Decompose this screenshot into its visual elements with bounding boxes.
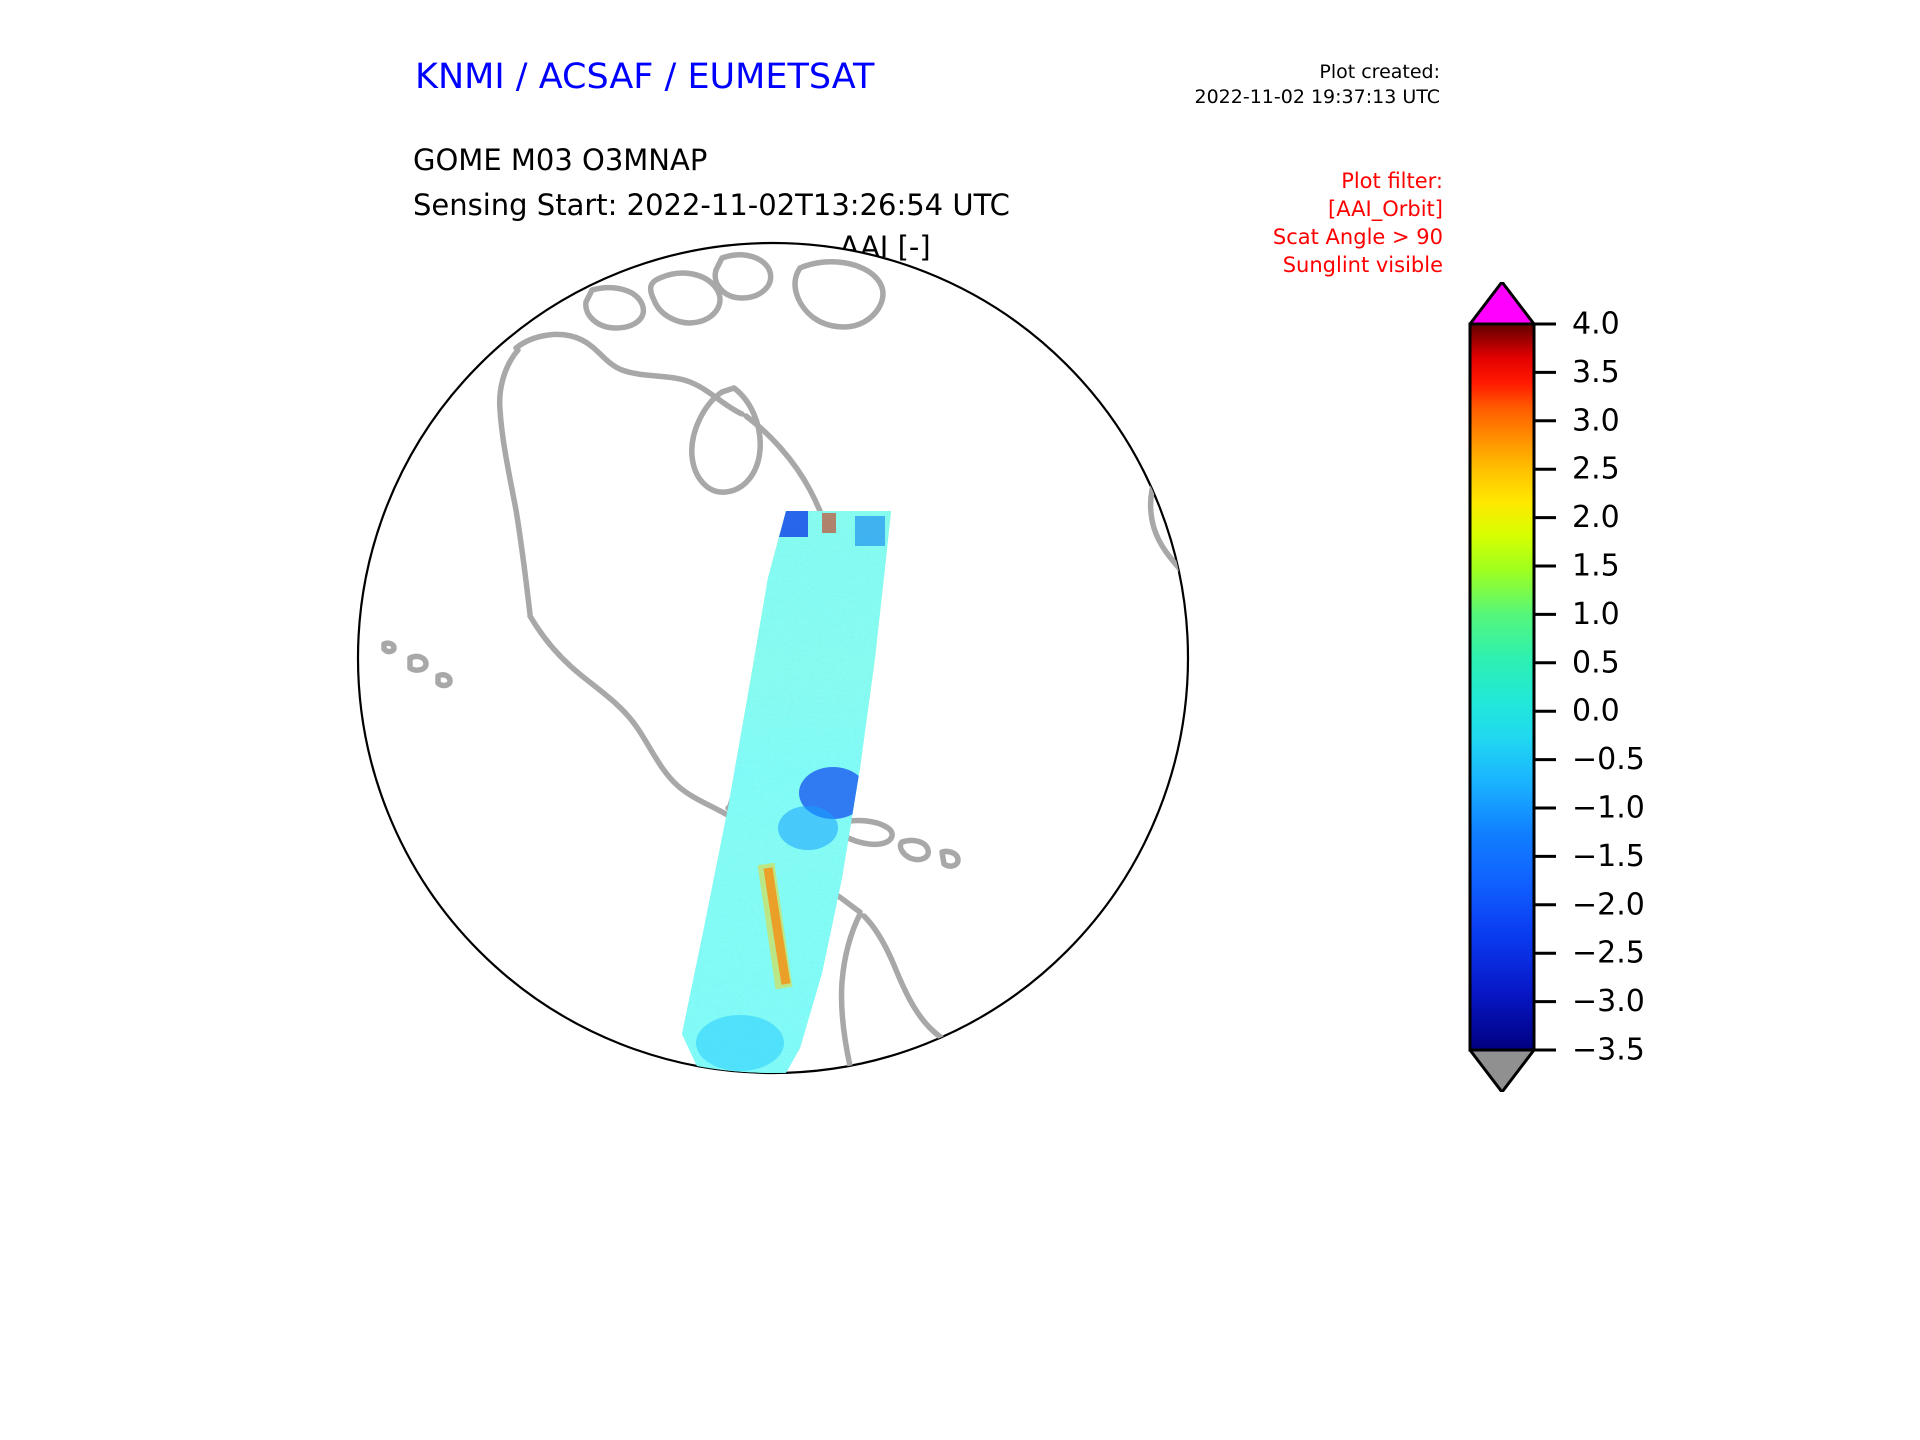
product-title: GOME M03 O3MNAP — [413, 143, 707, 177]
colorbar-tick-label: −3.5 — [1572, 1033, 1645, 1068]
colorbar-tick-label: −2.5 — [1572, 936, 1645, 971]
plot-filter-line-1: [AAI_Orbit] — [1273, 196, 1443, 224]
orthographic-globe — [330, 228, 1230, 1088]
plot-created-block: Plot created: 2022-11-02 19:37:13 UTC — [1195, 60, 1441, 109]
colorbar-tick-label: −2.0 — [1572, 887, 1645, 922]
colorbar-tick-label: 2.0 — [1572, 500, 1620, 535]
colorbar-tick-label: 1.5 — [1572, 549, 1620, 584]
colorbar-tick-label: 3.5 — [1572, 355, 1620, 390]
swath-feature-tropical-cyan — [778, 806, 838, 850]
coastline-europe-north — [1158, 452, 1230, 496]
colorbar-tick-labels: 4.03.53.02.52.01.51.00.50.0−0.5−1.0−1.5−… — [1572, 307, 1645, 1068]
colorbar-tick-label: −0.5 — [1572, 742, 1645, 777]
colorbar-tick-label: 0.0 — [1572, 694, 1620, 729]
plot-created-value: 2022-11-02 19:37:13 UTC — [1195, 85, 1441, 110]
map-canvas — [330, 228, 1230, 1088]
colorbar-tick-label: −3.0 — [1572, 984, 1645, 1019]
coastline-med-north — [1206, 523, 1230, 532]
colorbar: 4.03.53.02.52.01.51.00.50.0−0.5−1.0−1.5−… — [1440, 282, 1770, 1092]
plot-filter-block: Plot filter: [AAI_Orbit] Scat Angle > 90… — [1273, 168, 1443, 280]
coastline-west-africa — [1196, 622, 1230, 820]
swath-feature-arctic-red — [822, 513, 836, 533]
colorbar-under-arrow — [1470, 1050, 1534, 1092]
plot-filter-line-2: Scat Angle > 90 — [1273, 224, 1443, 252]
colorbar-tick-label: 4.0 — [1572, 307, 1620, 342]
colorbar-over-arrow — [1470, 282, 1534, 324]
swath-feature-south-cyan — [696, 1015, 784, 1071]
plot-page: KNMI / ACSAF / EUMETSAT Plot created: 20… — [0, 0, 1920, 1440]
plot-filter-line-3: Sunglint visible — [1273, 252, 1443, 280]
colorbar-tick-label: 2.5 — [1572, 452, 1620, 487]
coastline-gulf-guinea — [1208, 822, 1230, 1038]
swath-feature-north-blue — [855, 516, 885, 546]
coastline-antarctic-edge — [390, 988, 464, 1012]
colorbar-tick-label: 1.0 — [1572, 597, 1620, 632]
colorbar-tick-label: −1.5 — [1572, 839, 1645, 874]
colorbar-tick-label: −1.0 — [1572, 791, 1645, 826]
sensing-start-label: Sensing Start: 2022-11-02T13:26:54 UTC — [413, 188, 1010, 222]
colorbar-svg: 4.03.53.02.52.01.51.00.50.0−0.5−1.0−1.5−… — [1440, 282, 1770, 1092]
colorbar-tick-label: 0.5 — [1572, 645, 1620, 680]
colorbar-gradient — [1470, 324, 1534, 1050]
plot-created-label: Plot created: — [1195, 60, 1441, 85]
swath-feature-south-blue — [682, 1076, 732, 1088]
organisation-title: KNMI / ACSAF / EUMETSAT — [415, 57, 874, 97]
plot-filter-line-0: Plot filter: — [1273, 168, 1443, 196]
colorbar-ticks — [1534, 324, 1556, 1050]
colorbar-tick-label: 3.0 — [1572, 403, 1620, 438]
